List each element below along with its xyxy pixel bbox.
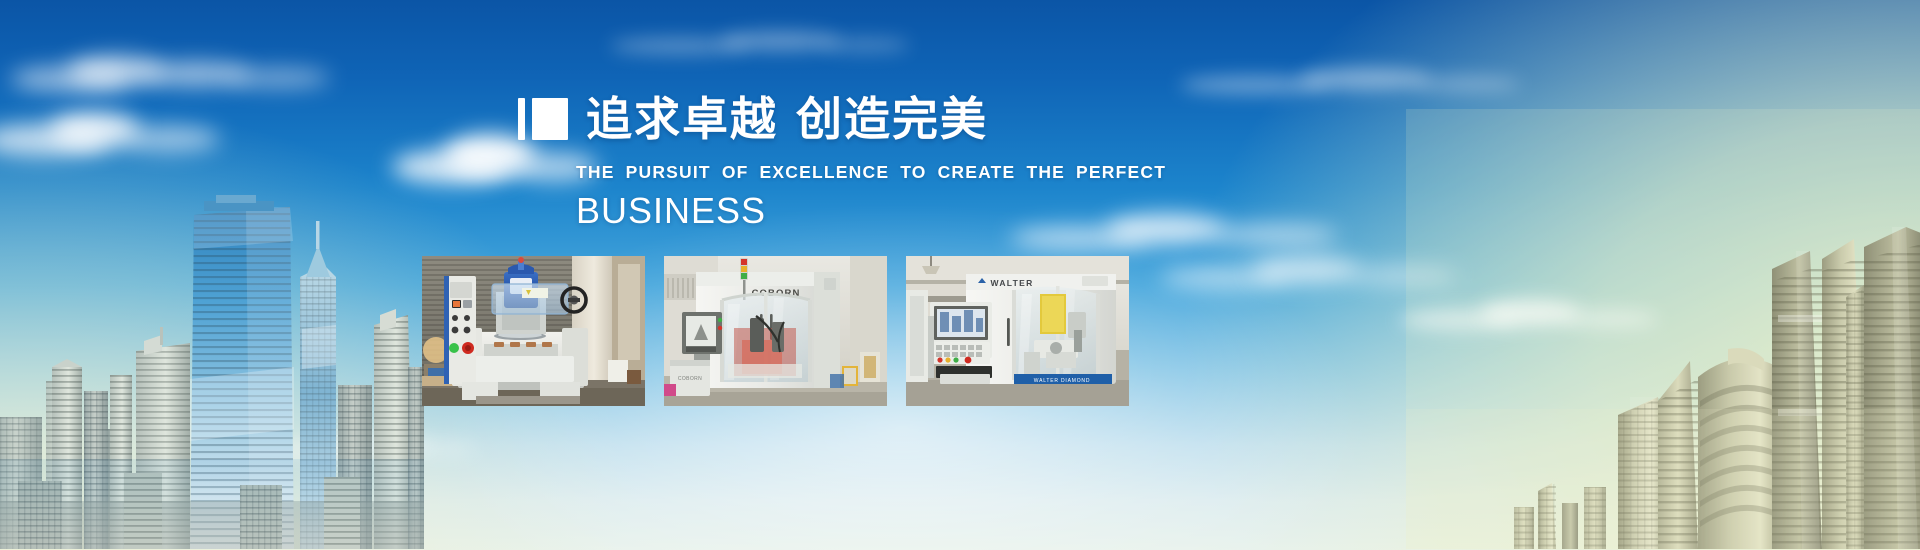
headline-block: 追求卓越 创造完美 THEPURSUITOFEXCELLENCETOCREATE…	[518, 92, 1258, 233]
business-line: BUSINESS	[576, 189, 1258, 233]
company-mark-icon	[518, 97, 568, 141]
subtitle-word: EXCELLENCE	[760, 162, 890, 183]
product-photo-strip: COBORN	[422, 256, 1129, 406]
subtitle-word: OF	[722, 162, 749, 183]
headline-row: 追求卓越 创造完美	[518, 92, 1258, 146]
photo-surface-grinder[interactable]	[422, 256, 645, 406]
subtitle-word: TO	[900, 162, 926, 183]
svg-text:WALTER DIAMOND: WALTER DIAMOND	[1034, 378, 1090, 384]
svg-text:COBORN: COBORN	[678, 376, 702, 382]
mark-bar-shape	[518, 98, 525, 140]
subtitle-word: PERFECT	[1076, 162, 1166, 183]
mark-block-shape	[532, 98, 568, 140]
subtitle-english: THEPURSUITOFEXCELLENCETOCREATETHEPERFECT	[576, 162, 1258, 183]
photo-walter-machine[interactable]: WALTER	[906, 256, 1129, 406]
subtitle-word: CREATE	[938, 162, 1016, 183]
promo-banner: 追求卓越 创造完美 THEPURSUITOFEXCELLENCETOCREATE…	[0, 0, 1920, 550]
svg-text:WALTER: WALTER	[990, 278, 1033, 288]
headline-chinese: 追求卓越 创造完美	[586, 96, 988, 142]
subtitle-word: THE	[576, 162, 615, 183]
subtitle-word: PURSUIT	[626, 162, 711, 183]
photo-coborn-machine[interactable]: COBORN	[664, 256, 887, 406]
subtitle-word: THE	[1026, 162, 1065, 183]
